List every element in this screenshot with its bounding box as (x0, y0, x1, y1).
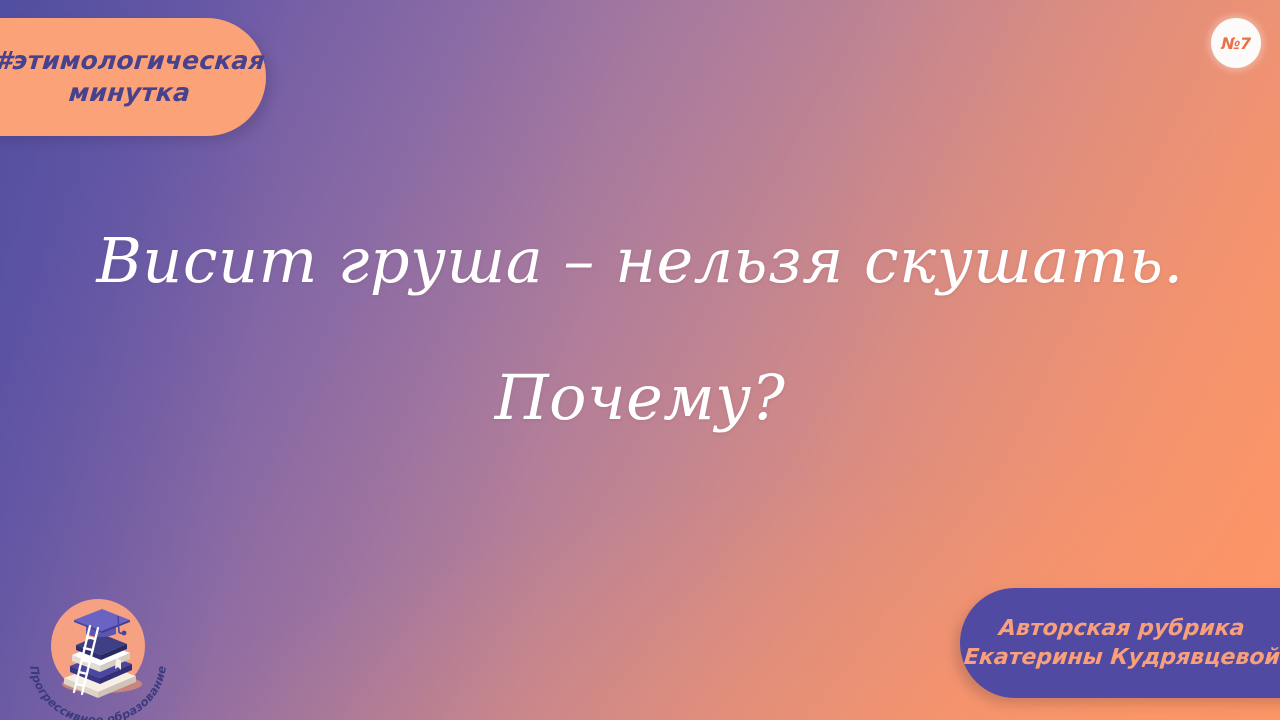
riddle-text-block: Висит груша – нельзя скушать. Почему? (0, 228, 1280, 430)
riddle-line-2: Почему? (0, 365, 1280, 430)
author-line-1: Авторская рубрика (998, 614, 1246, 643)
brand-logo-graphic: Прогрессивное образование (18, 588, 178, 720)
slide-number-text: №7 (1221, 34, 1250, 53)
slide-number-chip: №7 (1211, 18, 1261, 68)
hashtag-line-2: минутка (68, 77, 192, 109)
hashtag-line-1: #этимологическая (0, 45, 266, 77)
brand-logo: Прогрессивное образование (18, 588, 178, 720)
riddle-line-1: Висит груша – нельзя скушать. (0, 228, 1280, 293)
hashtag-badge: #этимологическая минутка (0, 18, 266, 136)
author-line-2: Екатерины Кудрявцевой (963, 643, 1280, 672)
slide-canvas: #этимологическая минутка №7 Висит груша … (0, 0, 1280, 720)
author-badge: Авторская рубрика Екатерины Кудрявцевой (960, 588, 1280, 698)
